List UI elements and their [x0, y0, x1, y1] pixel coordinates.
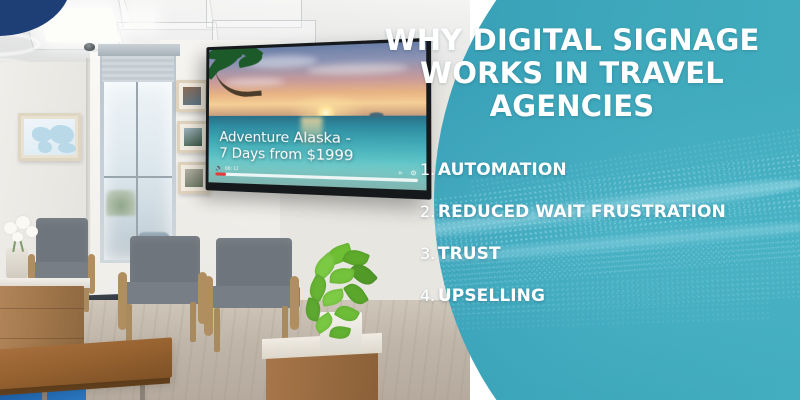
- volume-icon[interactable]: 🔈: [215, 165, 222, 171]
- video-progress-bar[interactable]: [215, 172, 418, 182]
- list-item-number: 4.: [420, 286, 435, 305]
- side-table-base: [266, 352, 378, 400]
- security-camera-icon: [84, 43, 95, 51]
- window-mullion: [136, 82, 138, 260]
- flower: [12, 232, 23, 242]
- page-title: WHY DIGITAL SIGNAGE WORKS IN TRAVEL AGEN…: [352, 24, 792, 122]
- video-player-bar: 🔈 00:12 » ⚙: [208, 160, 426, 190]
- photo-image: [185, 169, 203, 187]
- photo-image: [183, 87, 201, 105]
- flower: [26, 226, 38, 237]
- list-item: 3. Trust: [420, 244, 792, 264]
- list-item: 4. Upselling: [420, 286, 792, 306]
- list-item-label: Trust: [438, 244, 501, 264]
- framed-photo-2: [177, 121, 209, 153]
- map-artwork: [24, 119, 75, 155]
- settings-icon[interactable]: ⚙: [410, 171, 417, 178]
- video-progress-played: [215, 172, 226, 175]
- vase: [6, 248, 28, 280]
- list-item-number: 2.: [420, 202, 435, 221]
- fast-forward-icon[interactable]: »: [398, 170, 402, 177]
- potted-plant: [300, 246, 392, 356]
- framed-photo-1: [176, 80, 208, 112]
- benefits-list: 1. Automation 2. Reduced wait frustratio…: [420, 160, 792, 328]
- list-item-label: Upselling: [438, 286, 545, 306]
- window-blind-fabric: [102, 56, 174, 82]
- photo-image: [184, 128, 202, 146]
- list-item-number: 3.: [420, 244, 435, 263]
- framed-map-picture: [18, 113, 81, 161]
- list-item-label: Reduced wait frustration: [438, 202, 726, 222]
- list-item: 2. Reduced wait frustration: [420, 202, 792, 222]
- video-elapsed-time: 00:12: [225, 167, 238, 172]
- window-mullion: [104, 176, 172, 178]
- ceiling-light-panel: [128, 10, 154, 28]
- blog-header-banner: Adventure Alaska - 7 Days from $1999 🔈 0…: [0, 0, 800, 400]
- list-item-number: 1.: [420, 160, 435, 179]
- outside-foliage: [106, 190, 136, 216]
- list-item-label: Automation: [438, 160, 567, 180]
- window-blind-headrail: [98, 44, 180, 56]
- list-item: 1. Automation: [420, 160, 792, 180]
